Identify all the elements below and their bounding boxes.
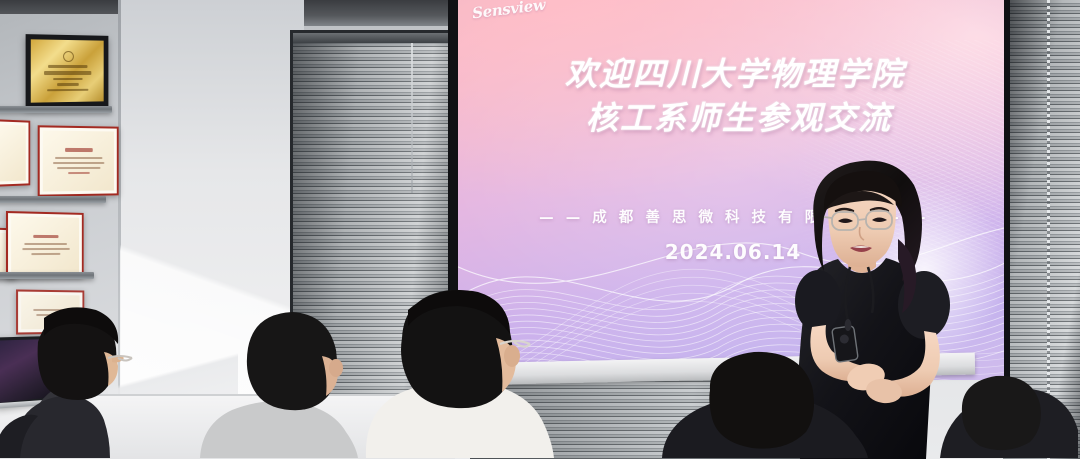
screen-title-line-2: 核工系师生参观交流 — [470, 96, 1004, 140]
audience-5-head — [962, 376, 1041, 450]
plaque-text-line — [44, 70, 91, 74]
wall-certificate — [0, 119, 30, 187]
audience-member-1 — [0, 300, 176, 459]
wall-shelf — [0, 106, 112, 113]
certificate-text-line — [31, 253, 61, 255]
audience-1-shoulders — [15, 396, 110, 458]
certificate-text-line — [25, 243, 67, 245]
audience-2-ear — [329, 359, 343, 377]
certificate-text-line — [57, 167, 100, 169]
cord-pendant — [845, 319, 852, 331]
plaque-text-line — [57, 83, 79, 86]
blinds-headrail — [293, 33, 455, 43]
wall-shelf — [0, 272, 94, 279]
screen-title-block: 欢迎四川大学物理学院 核工系师生参观交流 — [458, 52, 1004, 140]
plaque-text-line — [48, 65, 87, 68]
audience-4-head — [709, 352, 814, 449]
audience-3-ear — [504, 345, 520, 367]
wall-certificate — [38, 125, 119, 196]
plaque-emblem-icon — [63, 51, 74, 62]
audience-member-5 — [940, 372, 1080, 459]
gold-award-plaque — [26, 34, 109, 108]
audience-2-shirt — [200, 401, 358, 458]
certificate-title-line — [65, 148, 92, 152]
audience-member-3 — [358, 282, 588, 459]
presenter-sleeve-left — [795, 270, 841, 332]
certificate-text-line — [53, 162, 104, 164]
blinds-tilt-wand[interactable] — [411, 43, 413, 193]
screen-title-line-1: 欢迎四川大学物理学院 — [466, 52, 1004, 96]
plaque-text-line — [47, 88, 89, 91]
wall-certificate — [6, 211, 84, 279]
wall-shelf — [0, 196, 106, 203]
certificate-title-line — [33, 235, 59, 239]
certificate-text-line — [68, 172, 89, 174]
plaque-text-line — [53, 77, 82, 80]
certificate-text-line — [22, 248, 70, 250]
certificate-text-line — [55, 157, 102, 159]
screenshot-root: Sensview 欢迎四川大学物理学院 核工系师生参观交流 — — 成 都 善 … — [0, 0, 1080, 459]
audience-member-4 — [660, 350, 890, 459]
